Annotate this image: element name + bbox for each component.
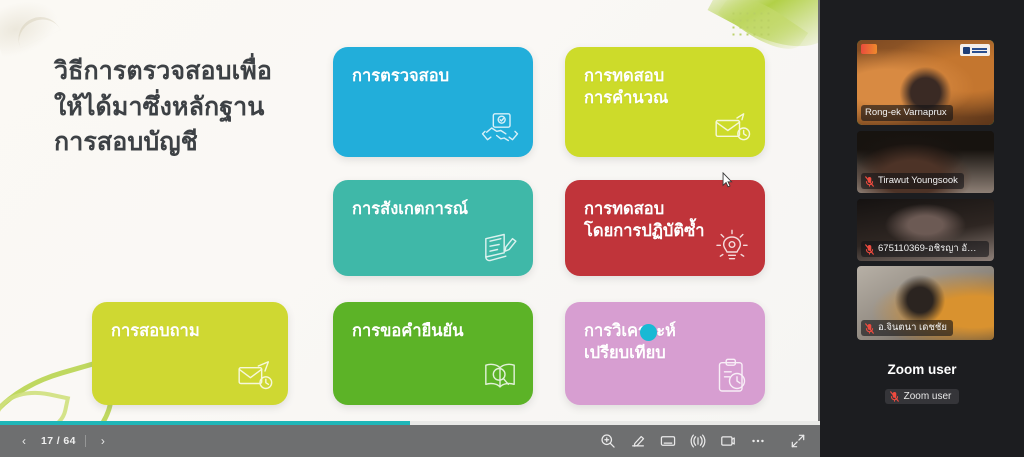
participant-tile[interactable]: อ.จินตนา เดชชัย	[857, 266, 994, 340]
envelope-arrow-icon	[235, 356, 275, 396]
microphone-muted-icon	[890, 391, 899, 402]
clipboard-clock-icon	[712, 356, 752, 396]
participant-tile[interactable]: Rong-ek Varnaprux	[857, 40, 994, 125]
annotation-dot	[640, 324, 657, 341]
participant-tile[interactable]: 675110369-อชิรญา อันโ...	[857, 199, 994, 261]
page-indicator: 17 / 64	[41, 435, 86, 447]
microphone-muted-icon	[865, 176, 874, 187]
envelope-clock-icon	[712, 108, 752, 148]
lightbulb-gear-icon	[712, 227, 752, 267]
toolbar-tools	[600, 433, 806, 449]
pop-out-icon[interactable]	[720, 433, 736, 449]
participant-name: Tirawut Youngsook	[878, 175, 958, 187]
participant-name-chip: Tirawut Youngsook	[861, 173, 964, 189]
organization-logo	[960, 44, 990, 56]
slide-card-inspection[interactable]: การตรวจสอบ	[333, 47, 533, 157]
audio-broadcast-icon[interactable]	[690, 433, 706, 449]
slide-card-label: การสังเกตการณ์	[352, 198, 493, 220]
screen-view-icon[interactable]	[660, 433, 676, 449]
zoom-meeting-window: วิธีการตรวจสอบเพื่อ ให้ได้มาซึ่งหลักฐาน …	[0, 0, 1024, 457]
slide-card-label: การตรวจสอบ	[352, 65, 493, 87]
participant-name: Rong-ek Varnaprux	[865, 107, 947, 119]
dot-grid-decoration	[730, 10, 774, 40]
book-magnifier-icon	[480, 356, 520, 396]
participant-name-chip: อ.จินตนา เดชชัย	[861, 320, 953, 336]
microphone-muted-icon	[865, 244, 874, 255]
handshake-check-icon	[480, 108, 520, 148]
slide-headline: วิธีการตรวจสอบเพื่อ ให้ได้มาซึ่งหลักฐาน …	[54, 54, 322, 161]
prev-page-button[interactable]: ‹	[16, 433, 32, 449]
page-navigation: ‹ 17 / 64 ›	[16, 433, 111, 449]
document-pen-icon	[480, 227, 520, 267]
zoom-logo-badge	[861, 44, 877, 54]
leaf-decoration-bottom-left-2	[0, 382, 70, 421]
slide-card-confirmation[interactable]: การขอคำยืนยัน	[333, 302, 533, 405]
shared-screen-area[interactable]: วิธีการตรวจสอบเพื่อ ให้ได้มาซึ่งหลักฐาน …	[0, 0, 820, 457]
slide-card-analytical-comparison[interactable]: การวิเคราะห์ เปรียบเทียบ	[565, 302, 765, 405]
participant-name-chip: 675110369-อชิรญา อันโ...	[861, 241, 989, 257]
more-options-icon[interactable]	[750, 433, 766, 449]
spotlight-user-chip: Zoom user	[885, 389, 960, 404]
corner-swirl-decoration	[11, 10, 60, 48]
spotlight-user-name: Zoom user	[904, 391, 952, 402]
spotlight-user-block: Zoom user Zoom user	[820, 362, 1024, 407]
slide-card-label: การทดสอบ โดยการปฏิบัติซ้ำ	[584, 198, 725, 243]
presentation-toolbar[interactable]: ‹ 17 / 64 ›	[0, 425, 820, 457]
fullscreen-icon[interactable]	[790, 433, 806, 449]
slide-card-label: การขอคำยืนยัน	[352, 320, 493, 342]
spotlight-user-title: Zoom user	[820, 362, 1024, 377]
slide-card-label: การสอบถาม	[111, 320, 248, 342]
participant-name: 675110369-อชิรญา อันโ...	[878, 243, 983, 255]
slide-card-label: การทดสอบ การคำนวณ	[584, 65, 725, 110]
slide-card-reperformance[interactable]: การทดสอบ โดยการปฏิบัติซ้ำ	[565, 180, 765, 276]
participant-name-chip: Rong-ek Varnaprux	[861, 105, 953, 121]
microphone-muted-icon	[865, 323, 874, 334]
participant-name: อ.จินตนา เดชชัย	[878, 322, 947, 334]
next-page-button[interactable]: ›	[95, 433, 111, 449]
slide-card-recalculation[interactable]: การทดสอบ การคำนวณ	[565, 47, 765, 157]
participant-tile[interactable]: Tirawut Youngsook	[857, 131, 994, 193]
slide-card-observation[interactable]: การสังเกตการณ์	[333, 180, 533, 276]
presentation-slide[interactable]: วิธีการตรวจสอบเพื่อ ให้ได้มาซึ่งหลักฐาน …	[0, 0, 818, 421]
annotate-pen-icon[interactable]	[630, 433, 646, 449]
slide-card-inquiry[interactable]: การสอบถาม	[92, 302, 288, 405]
participant-video-rail: Rong-ek Varnaprux Tirawut Youngsook	[820, 0, 1024, 457]
zoom-in-icon[interactable]	[600, 433, 616, 449]
